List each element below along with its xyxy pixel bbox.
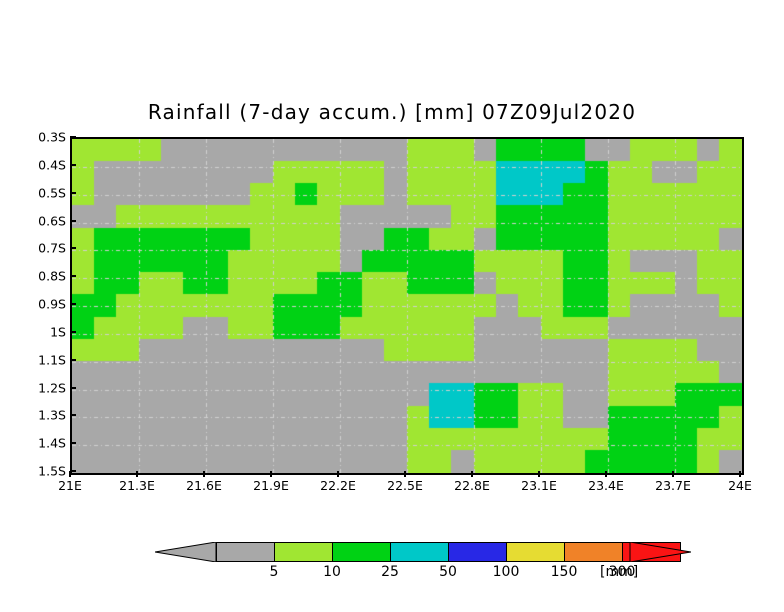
y-axis-tick-label: 1.4S xyxy=(22,436,66,451)
colorbar-tick-label: 25 xyxy=(381,564,399,580)
y-axis-tick-label: 1.5S xyxy=(22,464,66,479)
colorbar-band-100-150 xyxy=(506,542,565,562)
y-axis-tick-mark xyxy=(70,331,76,333)
x-axis-tick-label: 21.3E xyxy=(119,478,155,493)
x-axis-tick-label: 23.7E xyxy=(655,478,691,493)
x-axis-tick-mark xyxy=(69,471,71,477)
x-axis-tick-label: 23.4E xyxy=(588,478,624,493)
colorbar-band-50-100 xyxy=(448,542,507,562)
y-axis-tick-mark xyxy=(70,303,76,305)
colorbar-right-arrow-icon xyxy=(629,542,691,562)
x-axis-tick-label: 23.1E xyxy=(521,478,557,493)
y-axis-tick-mark xyxy=(70,414,76,416)
x-axis-tick-mark xyxy=(471,471,473,477)
x-axis-labels: 21E21.3E21.6E21.9E22.2E22.5E22.8E23.1E23… xyxy=(0,478,784,498)
y-axis-tick-label: 0.6S xyxy=(22,213,66,228)
x-axis-tick-mark xyxy=(337,471,339,477)
y-axis-tick-label: 1S xyxy=(22,324,66,339)
y-axis-labels: 0.3S0.4S0.5S0.6S0.7S0.8S0.9S1S1.1S1.2S1.… xyxy=(14,137,66,471)
y-axis-tick-label: 0.8S xyxy=(22,269,66,284)
y-axis-tick-mark xyxy=(70,164,76,166)
x-axis-tick-mark xyxy=(270,471,272,477)
y-axis-tick-mark xyxy=(70,192,76,194)
map-plot-area xyxy=(70,137,744,475)
x-axis-tick-mark xyxy=(739,471,741,477)
x-axis-tick-label: 21.9E xyxy=(253,478,289,493)
y-axis-tick-mark xyxy=(70,136,76,138)
colorbar-band-10-25 xyxy=(332,542,391,562)
y-axis-tick-label: 0.3S xyxy=(22,130,66,145)
colorbar-tick-label: 5 xyxy=(270,564,279,580)
rainfall-figure: Rainfall (7-day accum.) [mm] 07Z09Jul202… xyxy=(0,0,784,612)
x-axis-tick-label: 21E xyxy=(58,478,82,493)
x-axis-tick-mark xyxy=(404,471,406,477)
y-axis-tick-mark xyxy=(70,359,76,361)
x-axis-tick-mark xyxy=(605,471,607,477)
y-axis-tick-mark xyxy=(70,442,76,444)
colorbar: 5102550100150300 [mm] xyxy=(0,536,784,596)
y-axis-tick-label: 0.4S xyxy=(22,157,66,172)
colorbar-bands xyxy=(216,542,681,562)
x-axis-tick-label: 22.2E xyxy=(320,478,356,493)
y-axis-tick-label: 1.3S xyxy=(22,408,66,423)
chart-title: Rainfall (7-day accum.) [mm] 07Z09Jul202… xyxy=(0,100,784,124)
rainfall-heatmap-canvas xyxy=(72,139,742,473)
y-axis-tick-mark xyxy=(70,275,76,277)
colorbar-tick-label: 150 xyxy=(551,564,578,580)
x-axis-tick-mark xyxy=(136,471,138,477)
colorbar-band-below-5 xyxy=(216,542,275,562)
y-axis-tick-label: 1.1S xyxy=(22,352,66,367)
x-axis-tick-label: 22.5E xyxy=(387,478,423,493)
x-axis-tick-mark xyxy=(672,471,674,477)
x-axis-tick-label: 24E xyxy=(728,478,752,493)
colorbar-tick-label: 10 xyxy=(323,564,341,580)
x-axis-tick-label: 21.6E xyxy=(186,478,222,493)
y-axis-tick-label: 1.2S xyxy=(22,380,66,395)
y-axis-tick-mark xyxy=(70,387,76,389)
x-axis-tick-label: 22.8E xyxy=(454,478,490,493)
colorbar-tick-label: 100 xyxy=(493,564,520,580)
colorbar-tick-label: 50 xyxy=(439,564,457,580)
x-axis-tick-mark xyxy=(538,471,540,477)
y-axis-tick-label: 0.5S xyxy=(22,185,66,200)
y-axis-tick-mark xyxy=(70,220,76,222)
y-axis-tick-label: 0.7S xyxy=(22,241,66,256)
colorbar-left-arrow-icon xyxy=(155,542,217,562)
colorbar-band-5-10 xyxy=(274,542,333,562)
colorbar-band-25-50 xyxy=(390,542,449,562)
y-axis-tick-mark xyxy=(70,247,76,249)
colorbar-unit-label: [mm] xyxy=(600,564,638,580)
x-axis-tick-mark xyxy=(203,471,205,477)
colorbar-band-150-300 xyxy=(564,542,623,562)
y-axis-tick-label: 0.9S xyxy=(22,297,66,312)
